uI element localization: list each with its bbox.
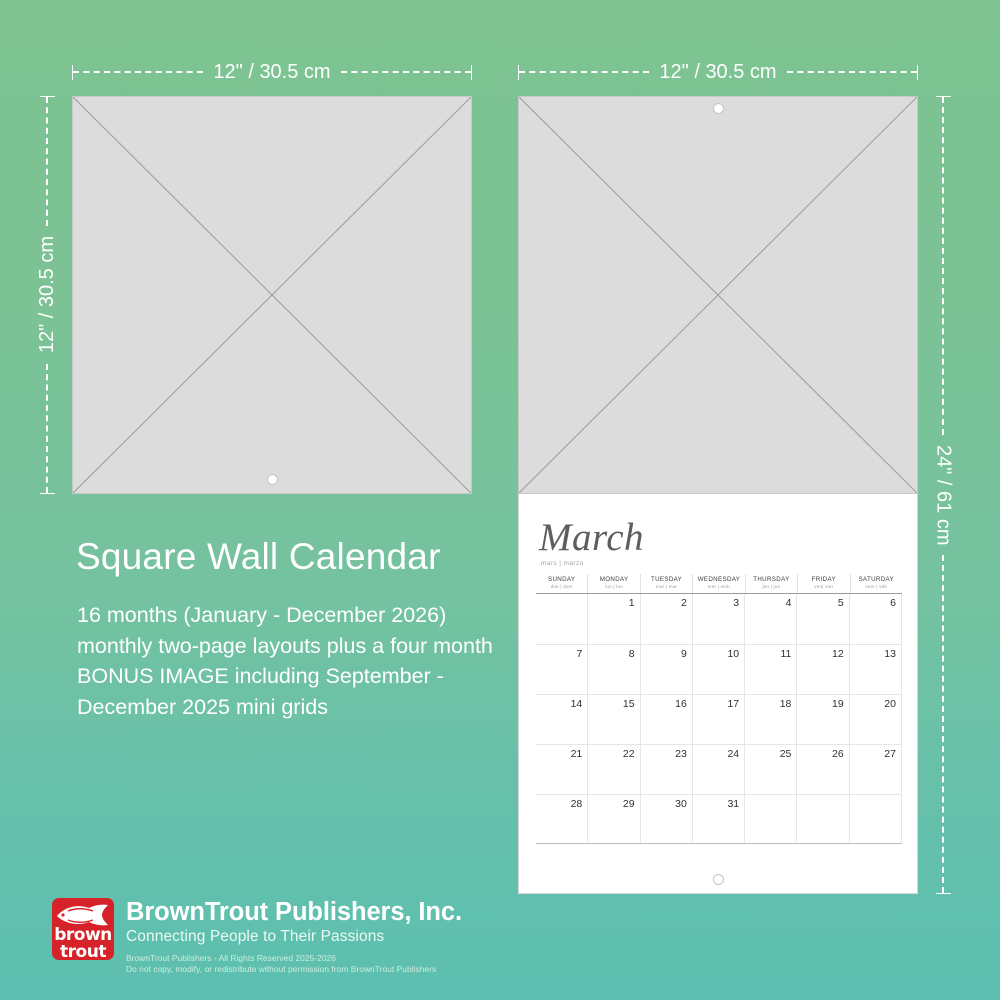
calendar-day-number: 26 [832,748,844,760]
dimension-top-left: 12" / 30.5 cm [72,60,472,84]
product-listing-image: 12" / 30.5 cm 12" / 30.5 cm 12" / 30.5 c… [0,0,1000,1000]
publisher-footer: brown trout BrownTrout Publishers, Inc. … [52,898,462,975]
dimension-dash-right [787,71,917,73]
calendar-image-panel-right [518,96,918,494]
weekday-name: SATURDAY [851,576,902,584]
legal-notice: BrownTrout Publishers - All Rights Reser… [126,953,462,976]
calendar-weekday-friday: FRIDAYven| vier [797,574,849,593]
calendar-month-title: March [539,518,644,557]
weekday-name: MONDAY [588,576,639,584]
calendar-day-cell[interactable]: 4 [744,594,796,644]
calendar-day-number: 6 [890,597,896,609]
calendar-day-cell[interactable]: 22 [587,745,639,794]
logo-word-trout: trout [52,944,114,960]
calendar-day-cell[interactable]: 7 [536,645,587,694]
calendar-day-number: 3 [733,597,739,609]
calendar-grid-page: March mars | marzo SUNDAYdim | domMONDAY… [518,494,918,894]
calendar-day-cell[interactable]: 11 [744,645,796,694]
binding-hole [713,874,724,885]
dimension-dash-bottom [942,555,944,893]
dimension-right-vertical: 24" / 61 cm [930,96,956,894]
dimension-cap-bottom [40,493,55,494]
calendar-day-cell[interactable]: 6 [849,594,902,644]
calendar-day-cell-empty[interactable] [849,795,902,843]
placeholder-cross-icon [519,97,917,493]
calendar-day-cell[interactable]: 18 [744,695,796,744]
calendar-grid: SUNDAYdim | domMONDAYlun | lunTUESDAYmar… [536,574,902,862]
calendar-day-number: 15 [623,698,635,710]
calendar-month-subtitle: mars | marzo [541,560,584,567]
dimension-dash-bottom [46,364,48,493]
dimension-top-right: 12" / 30.5 cm [518,60,918,84]
calendar-weekday-tuesday: TUESDAYmar | mar [640,574,692,593]
calendar-day-cell[interactable]: 20 [849,695,902,744]
calendar-week-row: 21222324252627 [536,744,902,794]
calendar-day-cell[interactable]: 1 [587,594,639,644]
calendar-day-cell-empty[interactable] [536,594,587,644]
dimension-dash-right [341,71,471,73]
calendar-weekday-thursday: THURSDAYjeu | jue [745,574,797,593]
calendar-day-number: 13 [884,648,896,660]
calendar-day-number: 8 [629,648,635,660]
dimension-cap-bottom [936,893,951,894]
calendar-day-number: 28 [571,798,583,810]
calendar-day-number: 2 [681,597,687,609]
weekday-translation: sam | sáb [851,584,902,590]
calendar-weekday-saturday: SATURDAYsam | sáb [850,574,902,593]
binding-hole [713,103,724,114]
publisher-name: BrownTrout Publishers, Inc. [126,899,462,926]
calendar-day-cell[interactable]: 15 [587,695,639,744]
calendar-day-cell[interactable]: 8 [587,645,639,694]
calendar-day-cell[interactable]: 9 [640,645,692,694]
weekday-translation: jeu | jue [746,584,797,590]
dimension-top-left-label: 12" / 30.5 cm [203,61,340,84]
weekday-name: THURSDAY [746,576,797,584]
dimension-left-vertical: 12" / 30.5 cm [34,96,60,494]
weekday-translation: lun | lun [588,584,639,590]
calendar-day-cell[interactable]: 19 [796,695,848,744]
calendar-day-cell[interactable]: 21 [536,745,587,794]
weekday-translation: mar | mar [641,584,692,590]
calendar-day-number: 21 [571,748,583,760]
dimension-top-right-label: 12" / 30.5 cm [649,61,786,84]
calendar-day-number: 20 [884,698,896,710]
weekday-name: WEDNESDAY [693,576,744,584]
legal-line-2: Do not copy, modify, or redistribute wit… [126,964,462,975]
calendar-day-cell[interactable]: 3 [692,594,744,644]
calendar-weekday-monday: MONDAYlun | lun [587,574,639,593]
dimension-dash-left [519,71,649,73]
binding-hole [267,474,278,485]
calendar-day-number: 14 [571,698,583,710]
calendar-day-cell[interactable]: 5 [796,594,848,644]
calendar-day-number: 29 [623,798,635,810]
calendar-day-number: 31 [727,798,739,810]
calendar-day-cell[interactable]: 31 [692,795,744,843]
calendar-day-number: 11 [781,648,792,660]
calendar-day-number: 30 [675,798,687,810]
calendar-day-number: 19 [832,698,844,710]
calendar-day-number: 24 [727,748,739,760]
calendar-day-number: 10 [727,648,739,660]
browntrout-logo: brown trout [52,898,114,960]
calendar-day-cell[interactable]: 14 [536,695,587,744]
calendar-day-cell[interactable]: 24 [692,745,744,794]
placeholder-cross-icon [73,97,471,493]
calendar-day-number: 4 [786,597,792,609]
calendar-day-cell[interactable]: 26 [796,745,848,794]
calendar-weekday-sunday: SUNDAYdim | dom [536,574,587,593]
calendar-day-number: 18 [780,698,792,710]
calendar-day-cell[interactable]: 28 [536,795,587,843]
legal-line-1: BrownTrout Publishers - All Rights Reser… [126,953,462,964]
calendar-week-row: 28293031 [536,794,902,844]
product-headline: Square Wall Calendar [76,536,441,578]
calendar-day-number: 7 [576,648,582,660]
calendar-day-number: 9 [681,648,687,660]
calendar-weekday-header: SUNDAYdim | domMONDAYlun | lunTUESDAYmar… [536,574,902,594]
calendar-day-number: 16 [675,698,687,710]
calendar-day-number: 23 [675,748,687,760]
calendar-day-number: 12 [832,648,844,660]
calendar-day-number: 1 [629,597,635,609]
weekday-translation: mer | miér [693,584,744,590]
calendar-day-number: 22 [623,748,635,760]
calendar-day-cell[interactable]: 17 [692,695,744,744]
calendar-day-number: 25 [780,748,792,760]
footer-text-block: BrownTrout Publishers, Inc. Connecting P… [126,898,462,975]
weekday-name: FRIDAY [798,576,849,584]
calendar-day-cell[interactable]: 23 [640,745,692,794]
calendar-day-cell-empty[interactable] [796,795,848,843]
calendar-week-row: 14151617181920 [536,694,902,744]
calendar-day-cell[interactable]: 2 [640,594,692,644]
dimension-cap-end [471,65,472,80]
calendar-week-row: 123456 [536,594,902,644]
dimension-cap-end [917,65,918,80]
calendar-day-number: 27 [884,748,896,760]
calendar-week-row: 78910111213 [536,644,902,694]
weekday-translation: ven| vier [798,584,849,590]
publisher-tagline: Connecting People to Their Passions [126,928,462,946]
calendar-day-cell-empty[interactable] [744,795,796,843]
dimension-right-label: 24" / 61 cm [932,435,955,555]
weekday-translation: dim | dom [536,584,587,590]
calendar-day-cell[interactable]: 29 [587,795,639,843]
calendar-image-panel-left [72,96,472,494]
calendar-weekday-wednesday: WEDNESDAYmer | miér [692,574,744,593]
calendar-week-rows: 1234567891011121314151617181920212223242… [536,594,902,844]
calendar-day-cell[interactable]: 25 [744,745,796,794]
dimension-dash-top [46,97,48,226]
dimension-dash-top [942,97,944,435]
product-description: 16 months (January - December 2026) mont… [77,600,527,722]
calendar-day-cell[interactable]: 16 [640,695,692,744]
weekday-name: TUESDAY [641,576,692,584]
calendar-day-cell[interactable]: 27 [849,745,902,794]
calendar-day-number: 17 [727,698,739,710]
weekday-name: SUNDAY [536,576,587,584]
calendar-day-cell[interactable]: 12 [796,645,848,694]
dimension-dash-left [73,71,203,73]
calendar-day-cell[interactable]: 10 [692,645,744,694]
calendar-day-cell[interactable]: 13 [849,645,902,694]
dimension-left-label: 12" / 30.5 cm [36,226,59,363]
calendar-day-cell[interactable]: 30 [640,795,692,843]
calendar-day-number: 5 [838,597,844,609]
